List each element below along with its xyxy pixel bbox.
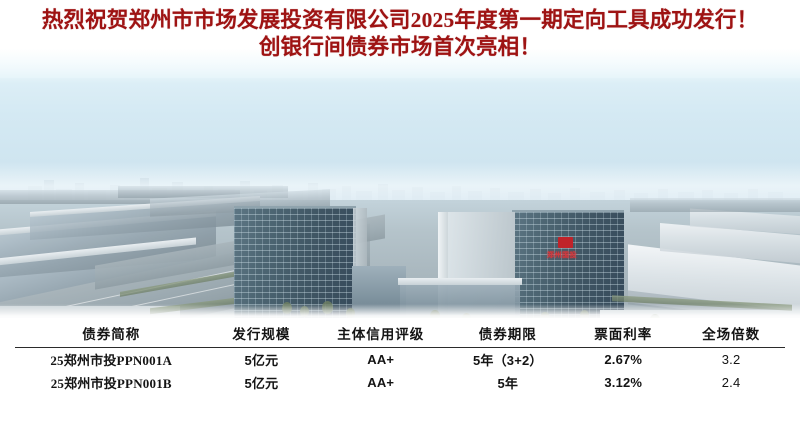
col-header-issue-size: 发行规模 xyxy=(208,318,316,348)
poster-root: 热烈祝贺郑州市市场发展投资有限公司2025年度第一期定向工具成功发行！ 创银行间… xyxy=(0,0,800,448)
cell-issue-size: 5亿元 xyxy=(208,348,316,372)
cell-coupon-rate: 2.67% xyxy=(569,348,677,372)
bond-table-area: 债券简称 发行规模 主体信用评级 债券期限 票面利率 全场倍数 25郑州市投PP… xyxy=(0,318,800,396)
aerial-photo: 郑州国投 xyxy=(0,70,800,320)
building-sign-text: 郑州国投 xyxy=(547,250,577,260)
table-row: 25郑州市投PPN001A 5亿元 AA+ 5年（3+2） 2.67% 3.2 xyxy=(15,348,785,372)
col-header-tenor: 债券期限 xyxy=(446,318,569,348)
footer-bar xyxy=(0,396,800,448)
headline-line-1: 热烈祝贺郑州市市场发展投资有限公司2025年度第一期定向工具成功发行！ xyxy=(0,7,800,34)
cell-tenor: 5年 xyxy=(446,371,569,394)
cell-subscription-multiple: 3.2 xyxy=(677,348,785,372)
col-header-credit-rating: 主体信用评级 xyxy=(315,318,446,348)
col-header-subscription-multiple: 全场倍数 xyxy=(677,318,785,348)
left-podium-roof xyxy=(398,278,522,285)
cell-coupon-rate: 3.12% xyxy=(569,371,677,394)
cell-credit-rating: AA+ xyxy=(315,371,446,394)
table-header-row: 债券简称 发行规模 主体信用评级 债券期限 票面利率 全场倍数 xyxy=(15,318,785,348)
cell-subscription-multiple: 2.4 xyxy=(677,371,785,394)
bond-table: 债券简称 发行规模 主体信用评级 债券期限 票面利率 全场倍数 25郑州市投PP… xyxy=(15,318,785,394)
cell-issue-size: 5亿元 xyxy=(208,371,316,394)
glass-tower-left xyxy=(234,206,356,320)
col-header-coupon-rate: 票面利率 xyxy=(569,318,677,348)
cell-tenor: 5年（3+2） xyxy=(446,348,569,372)
far-right-buildings xyxy=(630,198,800,212)
building-logo-mark-icon xyxy=(558,237,573,248)
headline-banner: 热烈祝贺郑州市市场发展投资有限公司2025年度第一期定向工具成功发行！ 创银行间… xyxy=(0,0,800,78)
col-header-bond-name: 债券简称 xyxy=(15,318,208,348)
table-row: 25郑州市投PPN001B 5亿元 AA+ 5年 3.12% 2.4 xyxy=(15,371,785,394)
cell-bond-name: 25郑州市投PPN001B xyxy=(15,371,208,394)
cell-bond-name: 25郑州市投PPN001A xyxy=(15,348,208,372)
cell-credit-rating: AA+ xyxy=(315,348,446,372)
headline-line-2: 创银行间债券市场首次亮相！ xyxy=(0,34,800,61)
